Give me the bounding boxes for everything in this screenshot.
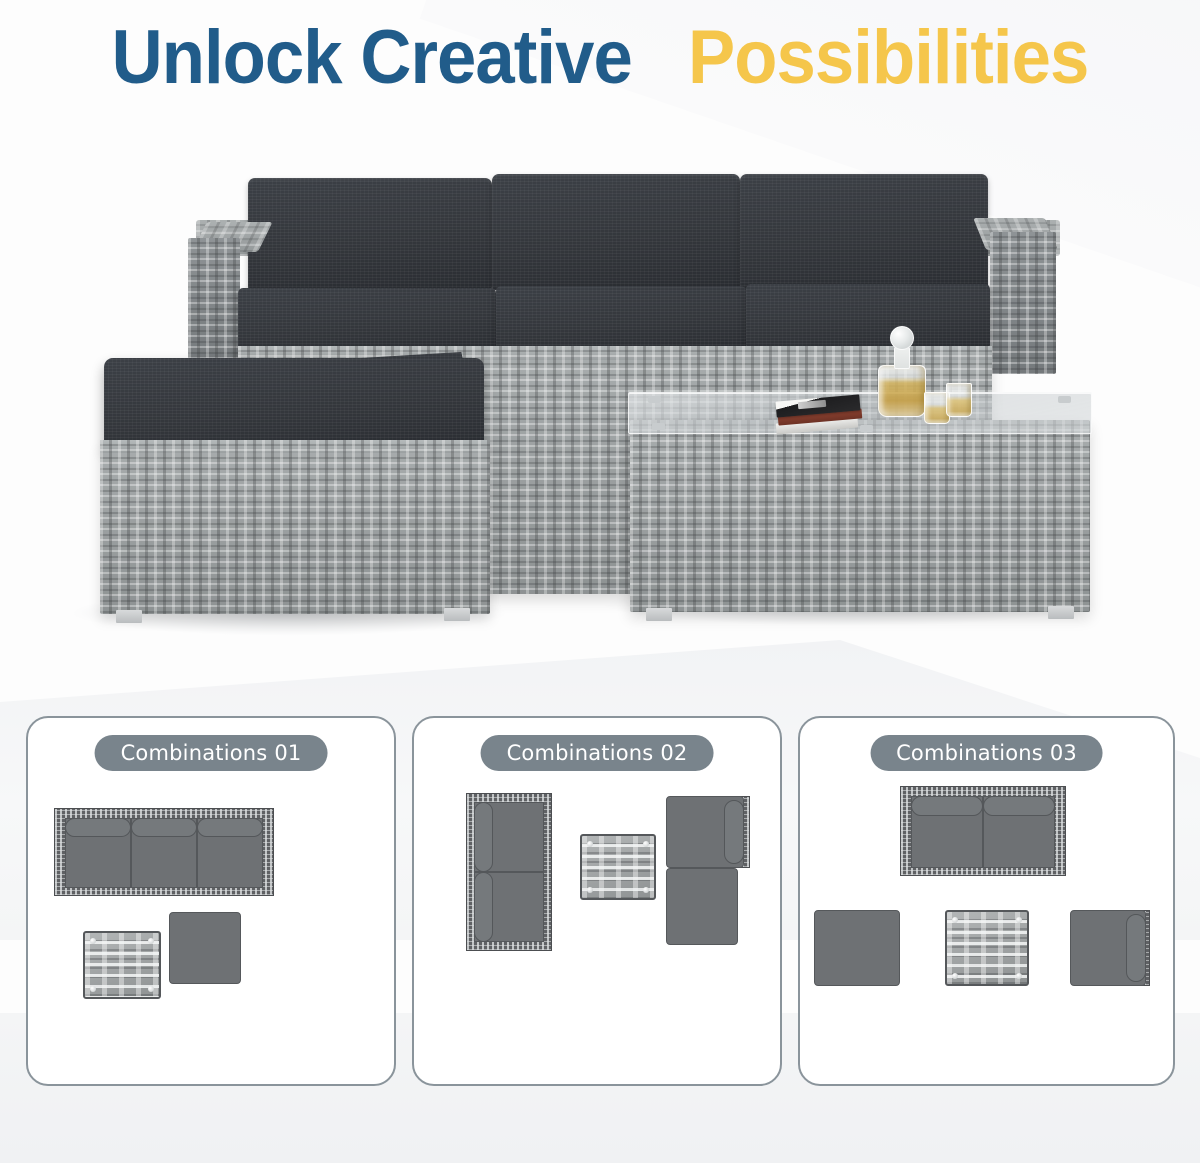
combination-label-02: Combinations 02 xyxy=(481,735,714,771)
diagram-table-screw-4 xyxy=(643,887,649,893)
diagram-table-screw-3 xyxy=(587,887,593,893)
diagram-table-screw-3 xyxy=(90,986,96,992)
diagram-coffee-table xyxy=(580,834,656,900)
diagram-coffee-table xyxy=(83,931,161,999)
diagram-ottoman xyxy=(169,912,241,984)
diagram-v-sofa-back-2 xyxy=(474,872,493,942)
combinations-section: Combinations 01 Combinations 02 xyxy=(0,0,1200,1163)
diagram-table-screw-4 xyxy=(148,986,154,992)
diagram-table-screw-2 xyxy=(1016,917,1022,923)
combination-card-02[interactable]: Combinations 02 xyxy=(412,716,782,1086)
combination-label-01: Combinations 01 xyxy=(95,735,328,771)
combination-diagram-01 xyxy=(28,778,394,1083)
diagram-ottoman xyxy=(814,910,900,986)
diagram-armchair-back-cushion xyxy=(1126,914,1146,982)
diagram-coffee-table xyxy=(945,910,1029,986)
combination-card-01[interactable]: Combinations 01 xyxy=(26,716,396,1086)
diagram-corner-back-cushion xyxy=(724,800,744,864)
diagram-sofa-back-1 xyxy=(65,818,131,837)
diagram-loveseat-back-1 xyxy=(911,796,983,816)
diagram-table-screw-3 xyxy=(952,973,958,979)
combination-card-03[interactable]: Combinations 03 xyxy=(798,716,1175,1086)
diagram-loveseat-back-2 xyxy=(983,796,1055,816)
diagram-sofa-back-3 xyxy=(197,818,263,837)
diagram-table-screw-1 xyxy=(587,841,593,847)
diagram-table-screw-2 xyxy=(643,841,649,847)
diagram-table-screw-2 xyxy=(148,938,154,944)
diagram-sofa-back-2 xyxy=(131,818,197,837)
combination-diagram-03 xyxy=(800,778,1173,1083)
combination-diagram-02 xyxy=(414,778,780,1083)
diagram-corner-seat-lower xyxy=(666,868,738,945)
diagram-table-screw-4 xyxy=(1016,973,1022,979)
diagram-table-screw-1 xyxy=(90,938,96,944)
diagram-table-screw-1 xyxy=(952,917,958,923)
diagram-v-sofa-back-1 xyxy=(474,802,493,872)
combination-label-03: Combinations 03 xyxy=(870,735,1103,771)
